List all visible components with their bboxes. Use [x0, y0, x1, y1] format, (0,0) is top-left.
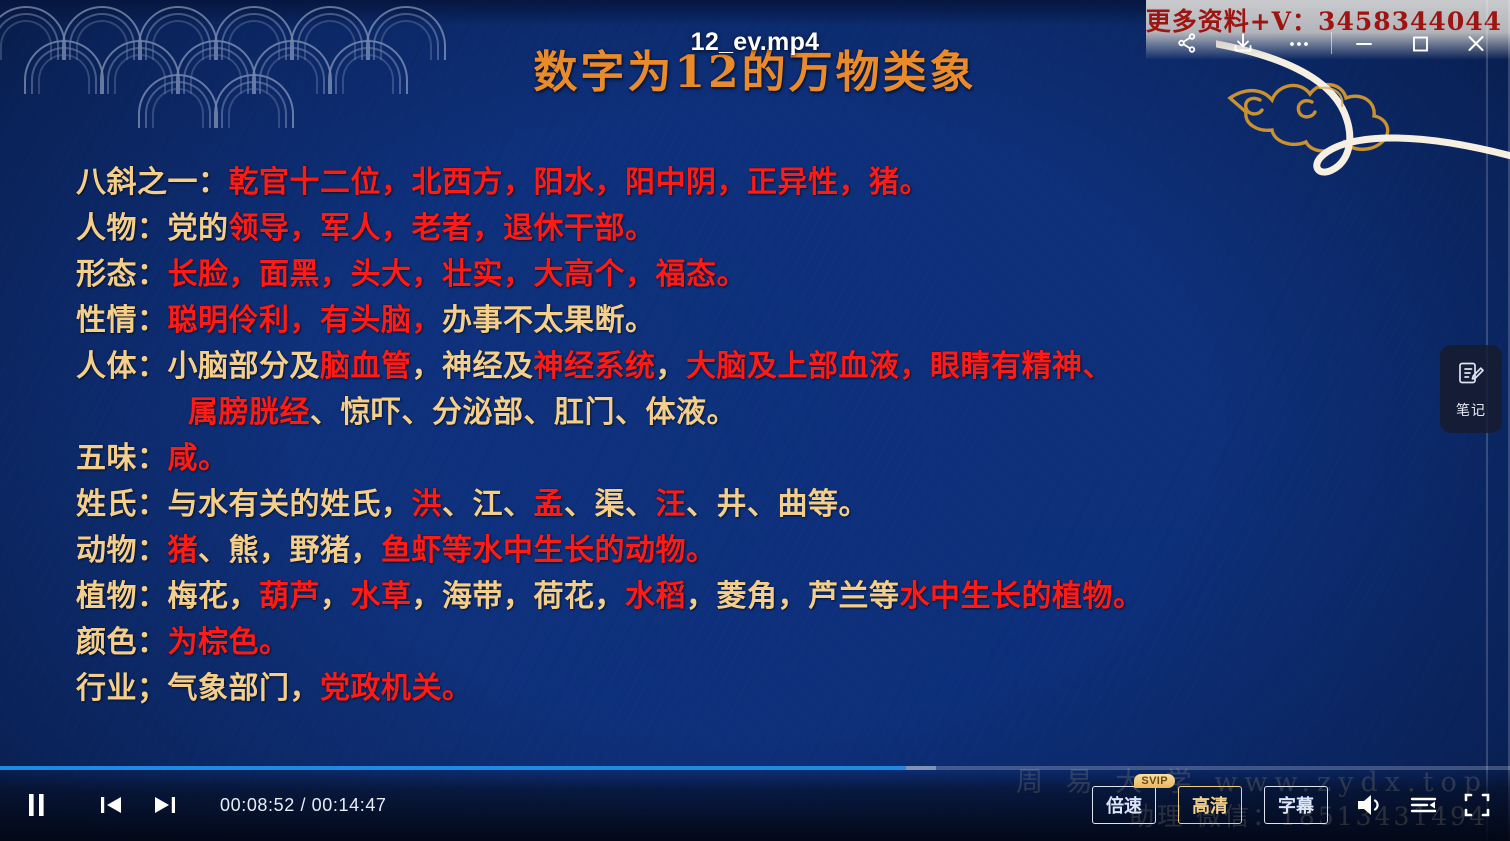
slide-text-span: 孟 [534, 487, 565, 522]
slide-text-span: 行业； [76, 671, 168, 706]
playback-speed-label: 倍速 [1106, 796, 1142, 816]
time-display: 00:08:52 / 00:14:47 [220, 795, 387, 816]
slide-text-span: 领导，军人，老者，退休干部。 [229, 211, 656, 246]
fullscreen-button[interactable] [1462, 790, 1492, 820]
slide-text-span: ，神经及 [412, 349, 534, 384]
slide-text-span: 姓氏： [76, 487, 168, 522]
slide-text-span: 梅花， [168, 579, 260, 614]
slide-text-span: 水草 [351, 579, 412, 614]
slide-text-span: ， [320, 579, 351, 614]
slide-line: 植物：梅花，葫芦，水草，海带，荷花，水稻，菱角，芦兰等水中生长的植物。 [76, 574, 1436, 620]
slide-line: 姓氏：与水有关的姓氏，洪、江、孟、渠、汪、井、曲等。 [76, 482, 1436, 528]
volume-button[interactable] [1354, 790, 1386, 820]
slide-text-span: 动物： [76, 533, 168, 568]
slide-text-span: 与水有关的姓氏， [168, 487, 412, 522]
slide-text-span: 为棕色。 [168, 625, 290, 660]
slide-text-span: 洪 [412, 487, 443, 522]
notes-button[interactable]: 笔记 [1440, 345, 1502, 433]
slide-text-span: 五味： [76, 441, 168, 476]
slide-text-span: 葫芦 [259, 579, 320, 614]
slide-line: 性情：聪明伶利，有头脑，办事不太果断。 [76, 298, 1436, 344]
slide-text-span: 性情： [76, 303, 168, 338]
slide-text-span: 汪 [656, 487, 687, 522]
player-controls-right: 倍速 SVIP 高清 字幕 [1092, 769, 1492, 841]
next-episode-button[interactable] [150, 790, 180, 820]
slide-text-span: 人物： [76, 211, 168, 246]
notes-label: 笔记 [1456, 400, 1486, 420]
slide-text-span: ，海带，荷花， [412, 579, 626, 614]
slide-text-span: 聪明伶利，有头脑， [168, 303, 443, 338]
slide-text-span: ，菱角，芦兰等 [686, 579, 900, 614]
slide-text-span: 办事不太果断。 [442, 303, 656, 338]
slide-text-span: 八斜之一： [76, 165, 229, 200]
slide-text-span: 、江、 [442, 487, 534, 522]
slide-line: 动物：猪、熊，野猪，鱼虾等水中生长的动物。 [76, 528, 1436, 574]
slide-line: 颜色：为棕色。 [76, 620, 1436, 666]
slide-text-span: 猪 [168, 533, 199, 568]
slide-body: 八斜之一：乾官十二位，北西方，阳水，阳中阴，正异性，猪。人物：党的领导，军人，老… [76, 160, 1436, 712]
slide-line: 行业；气象部门，党政机关。 [76, 666, 1436, 712]
slide-text-span: 、渠、 [564, 487, 656, 522]
notes-icon [1456, 358, 1486, 393]
slide-text-span: 脑血管 [320, 349, 412, 384]
playlist-button[interactable] [1408, 790, 1440, 820]
slide-text-span: 乾官十二位，北西方，阳水，阳中阴，正异性，猪。 [229, 165, 931, 200]
slide-text-span: 鱼虾等水中生长的动物。 [381, 533, 717, 568]
slide-text-span: 、熊，野猪， [198, 533, 381, 568]
video-title-overlay: 12_ev.mp4 [0, 28, 1510, 57]
slide-text-span: 咸。 [168, 441, 229, 476]
slide-text-span: 神经系统 [534, 349, 656, 384]
slide-text-span: 植物： [76, 579, 168, 614]
slide-text-span: 形态： [76, 257, 168, 292]
slide-text-span: ， [656, 349, 687, 384]
slide-text-span: 小脑部分及 [168, 349, 321, 384]
slide-text-span: 颜色： [76, 625, 168, 660]
playback-speed-button[interactable]: 倍速 SVIP [1092, 786, 1156, 824]
slide-text-span: 、惊吓、分泌部、肛门、体液。 [310, 395, 737, 430]
slide-text-span: 水稻 [625, 579, 686, 614]
slide-line: 属膀胱经、惊吓、分泌部、肛门、体液。 [76, 390, 1436, 436]
slide-text-span: 大脑及上部血液，眼睛有精神、 [686, 349, 1113, 384]
quality-button[interactable]: 高清 [1178, 786, 1242, 824]
slide-text-span: 属膀胱经 [188, 395, 310, 430]
svip-badge: SVIP [1134, 774, 1175, 788]
slide-text-span: 长脸，面黑，头大，壮实，大高个，福态。 [168, 257, 748, 292]
slide-text-span: 人体： [76, 349, 168, 384]
player-controls-left: 00:08:52 / 00:14:47 [24, 769, 387, 841]
slide-text-span: 水中生长的植物。 [900, 579, 1144, 614]
previous-episode-button[interactable] [96, 790, 126, 820]
slide-line: 八斜之一：乾官十二位，北西方，阳水，阳中阴，正异性，猪。 [76, 160, 1436, 206]
slide-text-span: 气象部门， [168, 671, 321, 706]
slide-text-span: 党政机关。 [320, 671, 473, 706]
slide-text-span: 、井、曲等。 [686, 487, 869, 522]
slide-line: 人物：党的领导，军人，老者，退休干部。 [76, 206, 1436, 252]
slide-text-span: 党的 [168, 211, 229, 246]
subtitle-button[interactable]: 字幕 [1264, 786, 1328, 824]
slide-line: 五味：咸。 [76, 436, 1436, 482]
video-player: 数字为12的万物类象 八斜之一：乾官十二位，北西方，阳水，阳中阴，正异性，猪。人… [0, 0, 1510, 841]
slide-line: 人体：小脑部分及脑血管，神经及神经系统，大脑及上部血液，眼睛有精神、 [76, 344, 1436, 390]
slide-line: 形态：长脸，面黑，头大，壮实，大高个，福态。 [76, 252, 1436, 298]
pause-button[interactable] [24, 790, 50, 820]
